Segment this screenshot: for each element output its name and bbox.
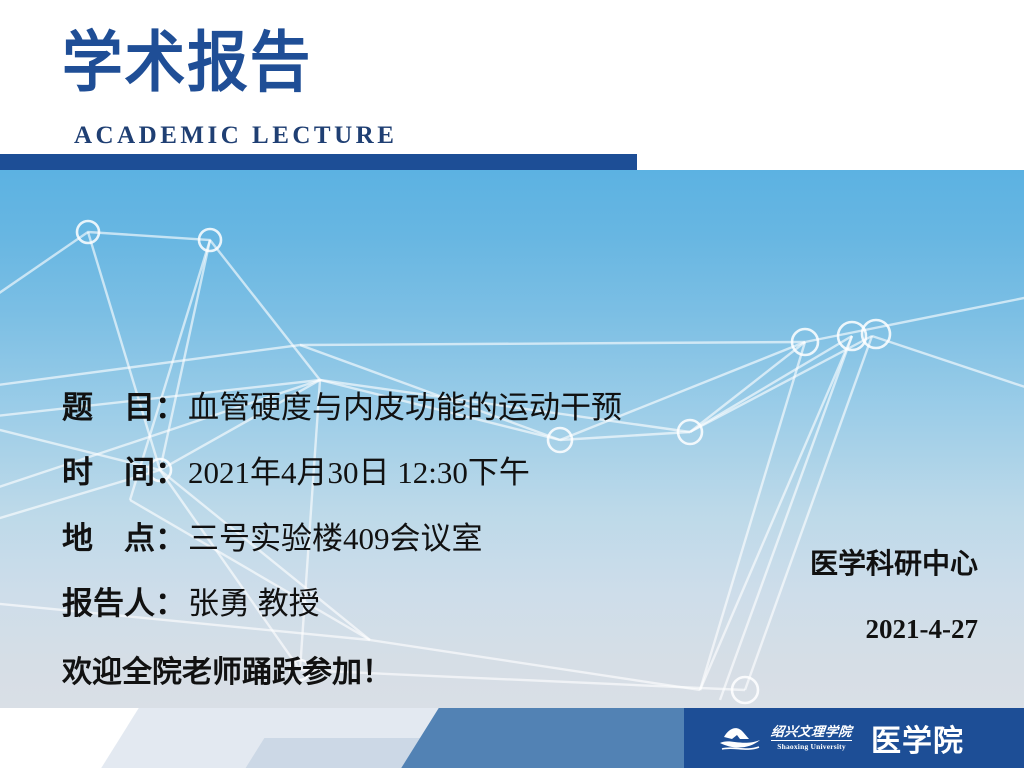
info-label-time: 时 间： bbox=[62, 455, 186, 491]
info-label-location: 地 点： bbox=[62, 521, 186, 557]
lecture-info-list: 题 目：血管硬度与内皮功能的运动干预 时 间：2021年4月30日 12:30下… bbox=[0, 170, 1024, 708]
page-title: 学术报告 bbox=[62, 28, 312, 97]
poster-header: 学术报告 ACADEMIC LECTURE bbox=[0, 0, 1024, 173]
lecture-poster-slide: 学术报告 ACADEMIC LECTURE bbox=[0, 0, 1024, 768]
logo-divider bbox=[771, 740, 852, 741]
welcome-message: 欢迎全院老师踊跃参加！ bbox=[62, 647, 392, 691]
info-row-time: 时 间：2021年4月30日 12:30下午 bbox=[62, 447, 530, 492]
university-logo: 绍兴文理学院 Shaoxing University 医学院 bbox=[718, 708, 964, 768]
university-name-block: 绍兴文理学院 Shaoxing University bbox=[771, 725, 852, 751]
poster-body-panel: 题 目：血管硬度与内皮功能的运动干预 时 间：2021年4月30日 12:30下… bbox=[0, 170, 1024, 708]
info-value-topic: 血管硬度与内皮功能的运动干预 bbox=[188, 390, 622, 425]
info-row-location: 地 点：三号实验楼409会议室 bbox=[62, 513, 483, 558]
info-value-speaker: 张勇 教授 bbox=[188, 586, 320, 621]
mountain-wave-icon bbox=[718, 723, 762, 753]
info-value-time: 2021年4月30日 12:30下午 bbox=[188, 455, 530, 490]
poster-footer: 绍兴文理学院 Shaoxing University 医学院 bbox=[0, 708, 1024, 768]
info-value-location: 三号实验楼409会议室 bbox=[188, 521, 483, 556]
signature-organization: 医学科研中心 bbox=[810, 550, 978, 578]
page-subtitle: ACADEMIC LECTURE bbox=[74, 122, 397, 150]
signature-date: 2021-4-27 bbox=[810, 616, 978, 643]
university-name-en: Shaoxing University bbox=[777, 743, 846, 751]
info-row-topic: 题 目：血管硬度与内皮功能的运动干预 bbox=[62, 382, 622, 427]
college-name: 医学院 bbox=[871, 716, 964, 760]
university-name-cn: 绍兴文理学院 bbox=[770, 725, 852, 738]
info-label-speaker: 报告人： bbox=[62, 586, 186, 622]
header-divider-bar bbox=[0, 154, 637, 170]
info-row-speaker: 报告人：张勇 教授 bbox=[62, 578, 320, 623]
signature-block: 医学科研中心 2021-4-27 bbox=[810, 550, 978, 643]
info-label-topic: 题 目： bbox=[62, 390, 186, 426]
